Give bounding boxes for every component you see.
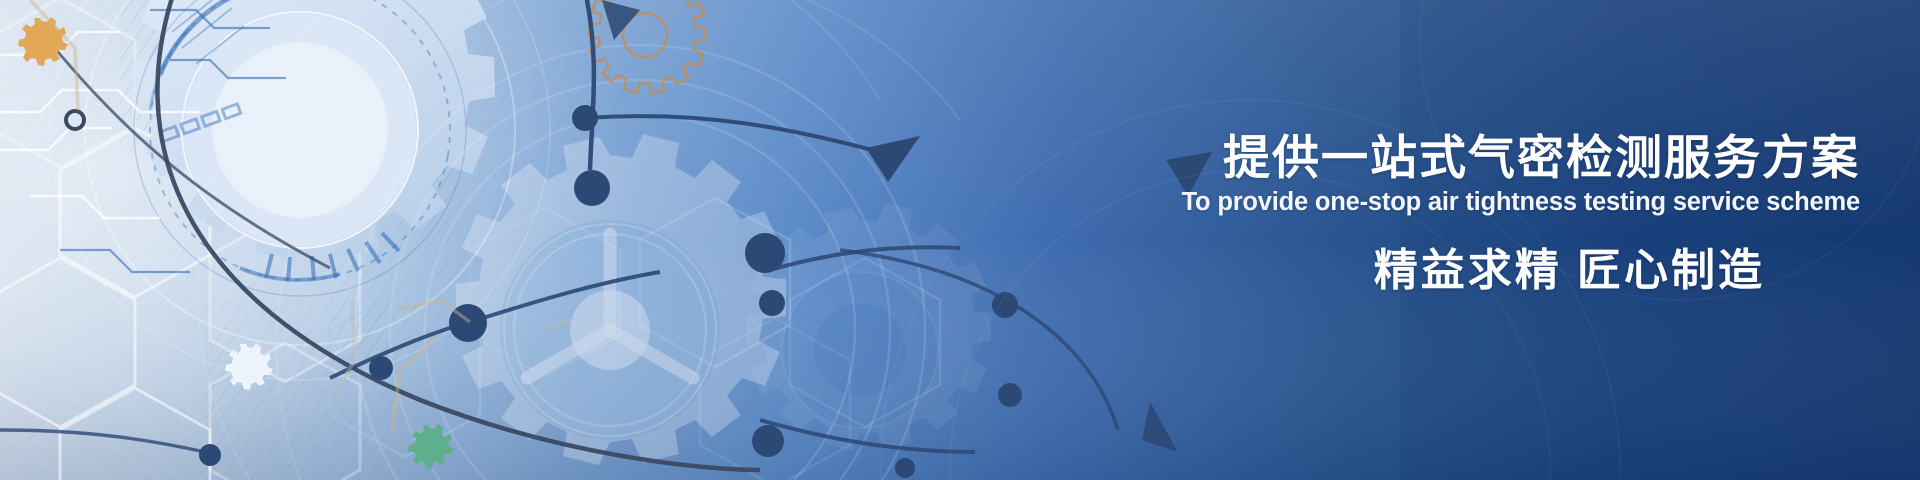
mid-gear	[456, 134, 786, 465]
banner-background-graphic	[0, 0, 1920, 480]
hero-banner: 提供一站式气密检测服务方案 To provide one-stop air ti…	[0, 0, 1920, 480]
